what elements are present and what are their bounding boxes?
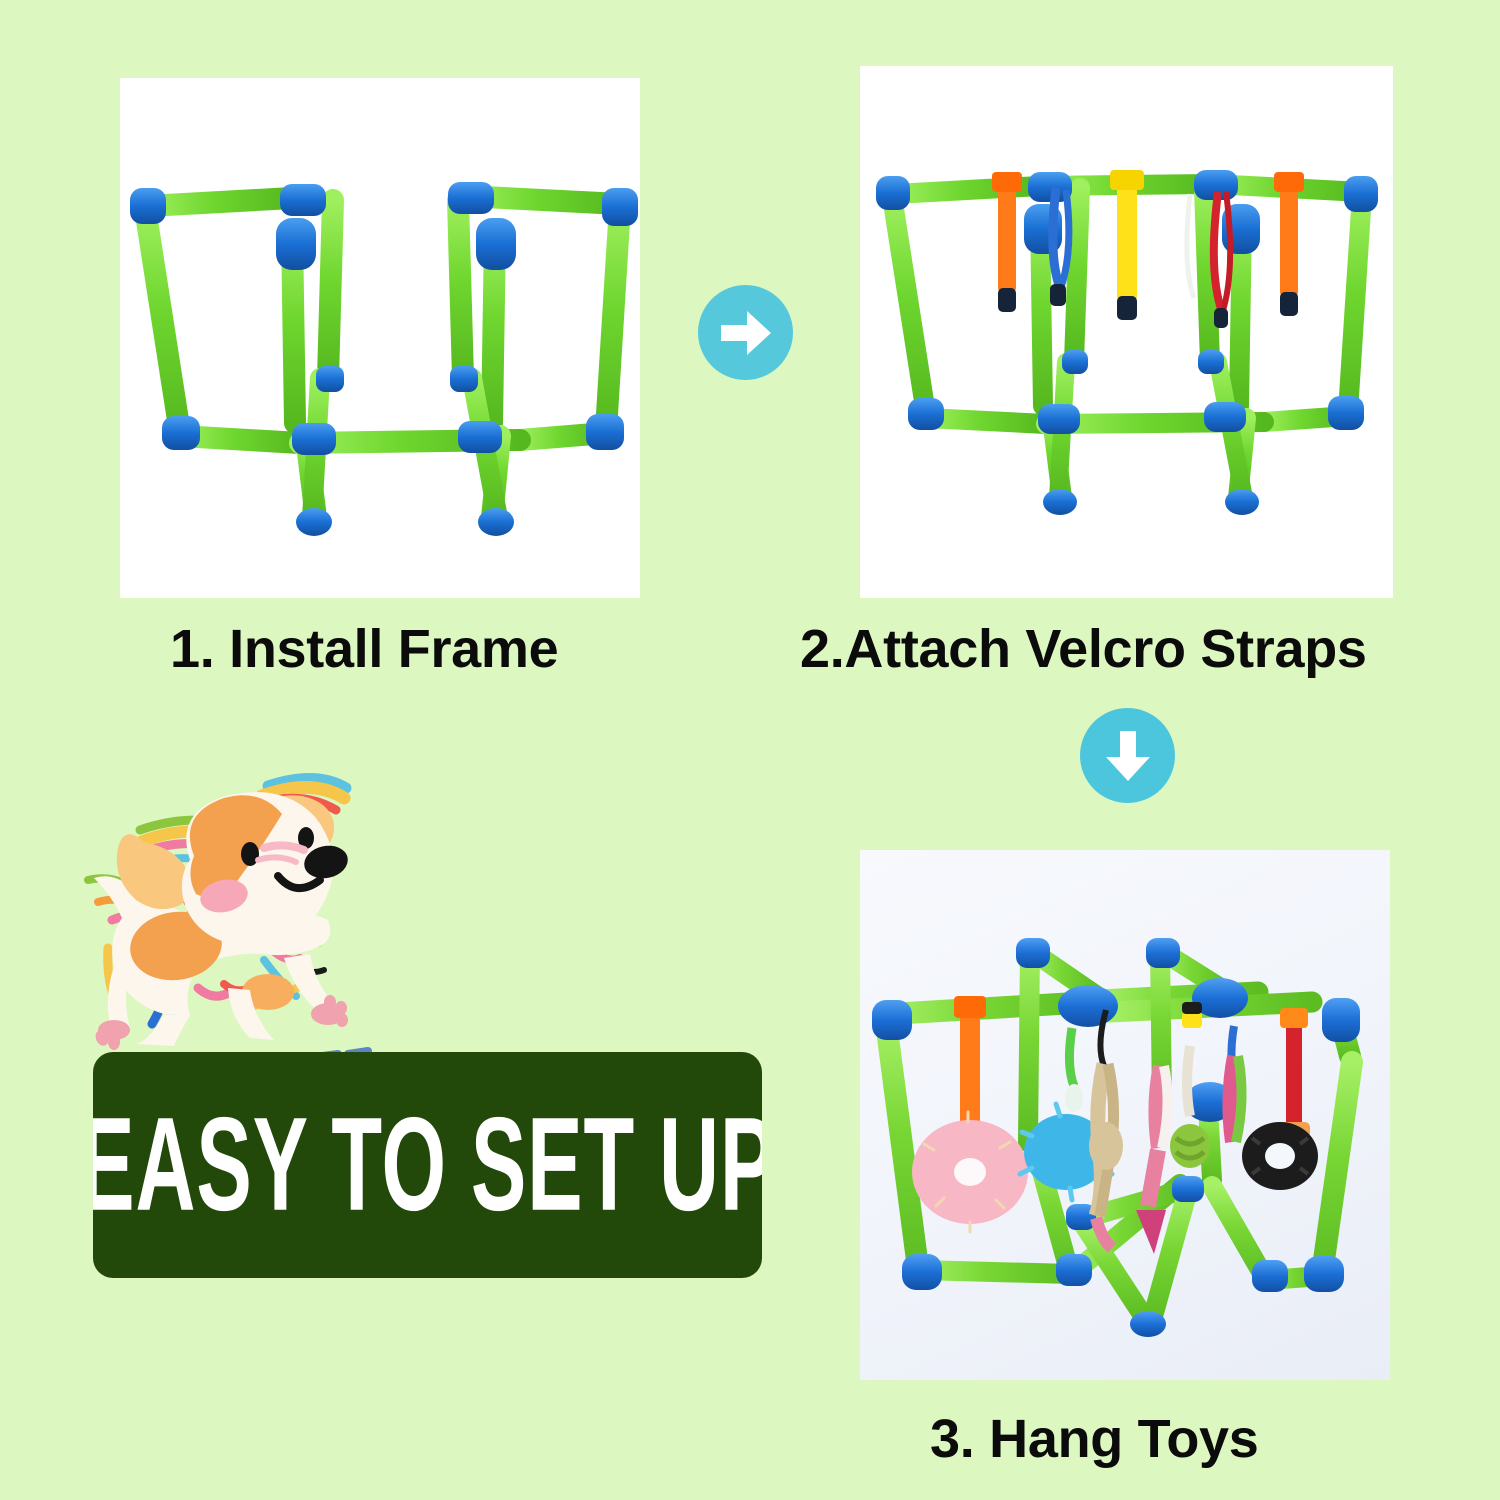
- arrow-right-icon: [698, 285, 793, 380]
- easy-to-set-up-banner: EASY TO SET UP: [93, 1052, 762, 1278]
- infographic-stage: 1. Install Frame: [0, 0, 1500, 1500]
- step-3-caption: 3. Hang Toys: [930, 1408, 1258, 1470]
- banner-text: EASY TO SET UP: [93, 1098, 762, 1231]
- step-1-photo: [120, 78, 640, 598]
- twisted-rope-toy: [1229, 1026, 1241, 1142]
- step-2-photo: [860, 66, 1393, 598]
- dog-body: [93, 792, 351, 1050]
- pink-donut-plush: [912, 1112, 1028, 1232]
- step-2-caption: 2.Attach Velcro Straps: [800, 618, 1367, 680]
- arrow-down-glyph: [1102, 727, 1154, 785]
- step-1-caption: 1. Install Frame: [170, 618, 558, 680]
- frame-with-straps-illustration: [860, 66, 1393, 598]
- pvc-frame-illustration: [120, 78, 640, 598]
- frame-with-toys-illustration: [860, 850, 1390, 1380]
- arrow-right-glyph: [717, 307, 775, 359]
- step-3-photo: [860, 850, 1390, 1380]
- black-tire-ring: [1242, 1008, 1318, 1190]
- arrow-down-icon: [1080, 708, 1175, 803]
